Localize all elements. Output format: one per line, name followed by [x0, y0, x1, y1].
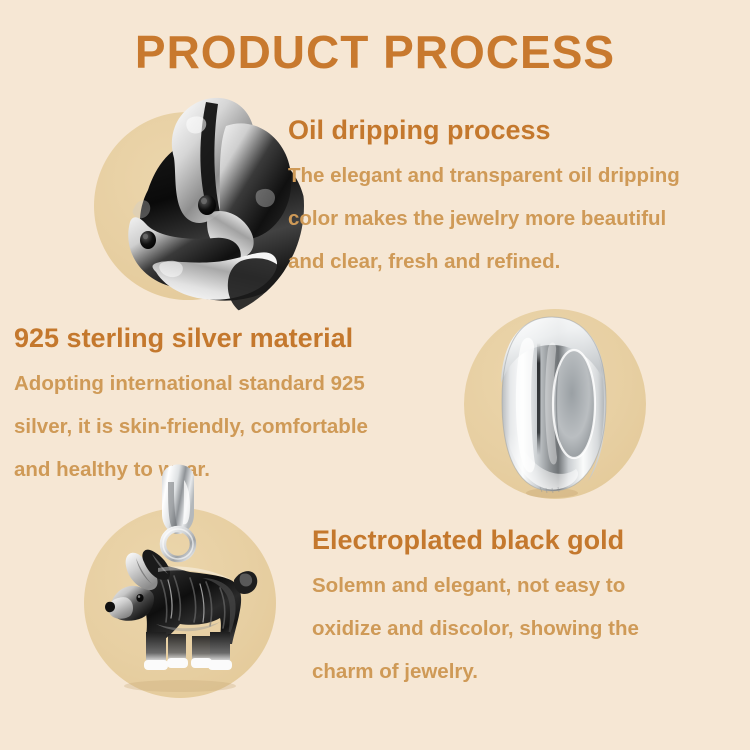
section-body-line: color makes the jewelry more beautiful [288, 197, 680, 240]
silver-rondelle-spacer-bead [464, 309, 646, 499]
sterling-silver-image-circle [464, 309, 646, 499]
section-body-line: Solemn and elegant, not easy to [312, 564, 639, 607]
section-body-line: charm of jewelry. [312, 650, 639, 693]
section-body-line: Adopting international standard 925 [14, 362, 368, 405]
section-body-line: oxidize and discolor, showing the [312, 607, 639, 650]
section-heading-black-gold: Electroplated black gold [312, 524, 639, 556]
section-oil-dripping-text: Oil dripping process The elegant and tra… [288, 114, 680, 283]
page-title: PRODUCT PROCESS [0, 24, 750, 80]
section-sterling-silver-text: 925 sterling silver material Adopting in… [14, 322, 368, 491]
section-body-line: The elegant and transparent oil dripping [288, 154, 680, 197]
section-black-gold-text: Electroplated black gold Solemn and eleg… [312, 524, 639, 693]
section-body-line: and clear, fresh and refined. [288, 240, 680, 283]
oil-dripping-image-circle [94, 112, 282, 300]
oil-dripping-dog-charm-macro [94, 112, 282, 300]
section-body-line: silver, it is skin-friendly, comfortable [14, 405, 368, 448]
black-gold-dog-pendant-charm [84, 508, 276, 698]
section-heading-oil-dripping: Oil dripping process [288, 114, 680, 146]
section-heading-sterling-silver: 925 sterling silver material [14, 322, 368, 354]
black-gold-image-circle [84, 508, 276, 698]
product-process-infographic: PRODUCT PROCESS [0, 0, 750, 750]
